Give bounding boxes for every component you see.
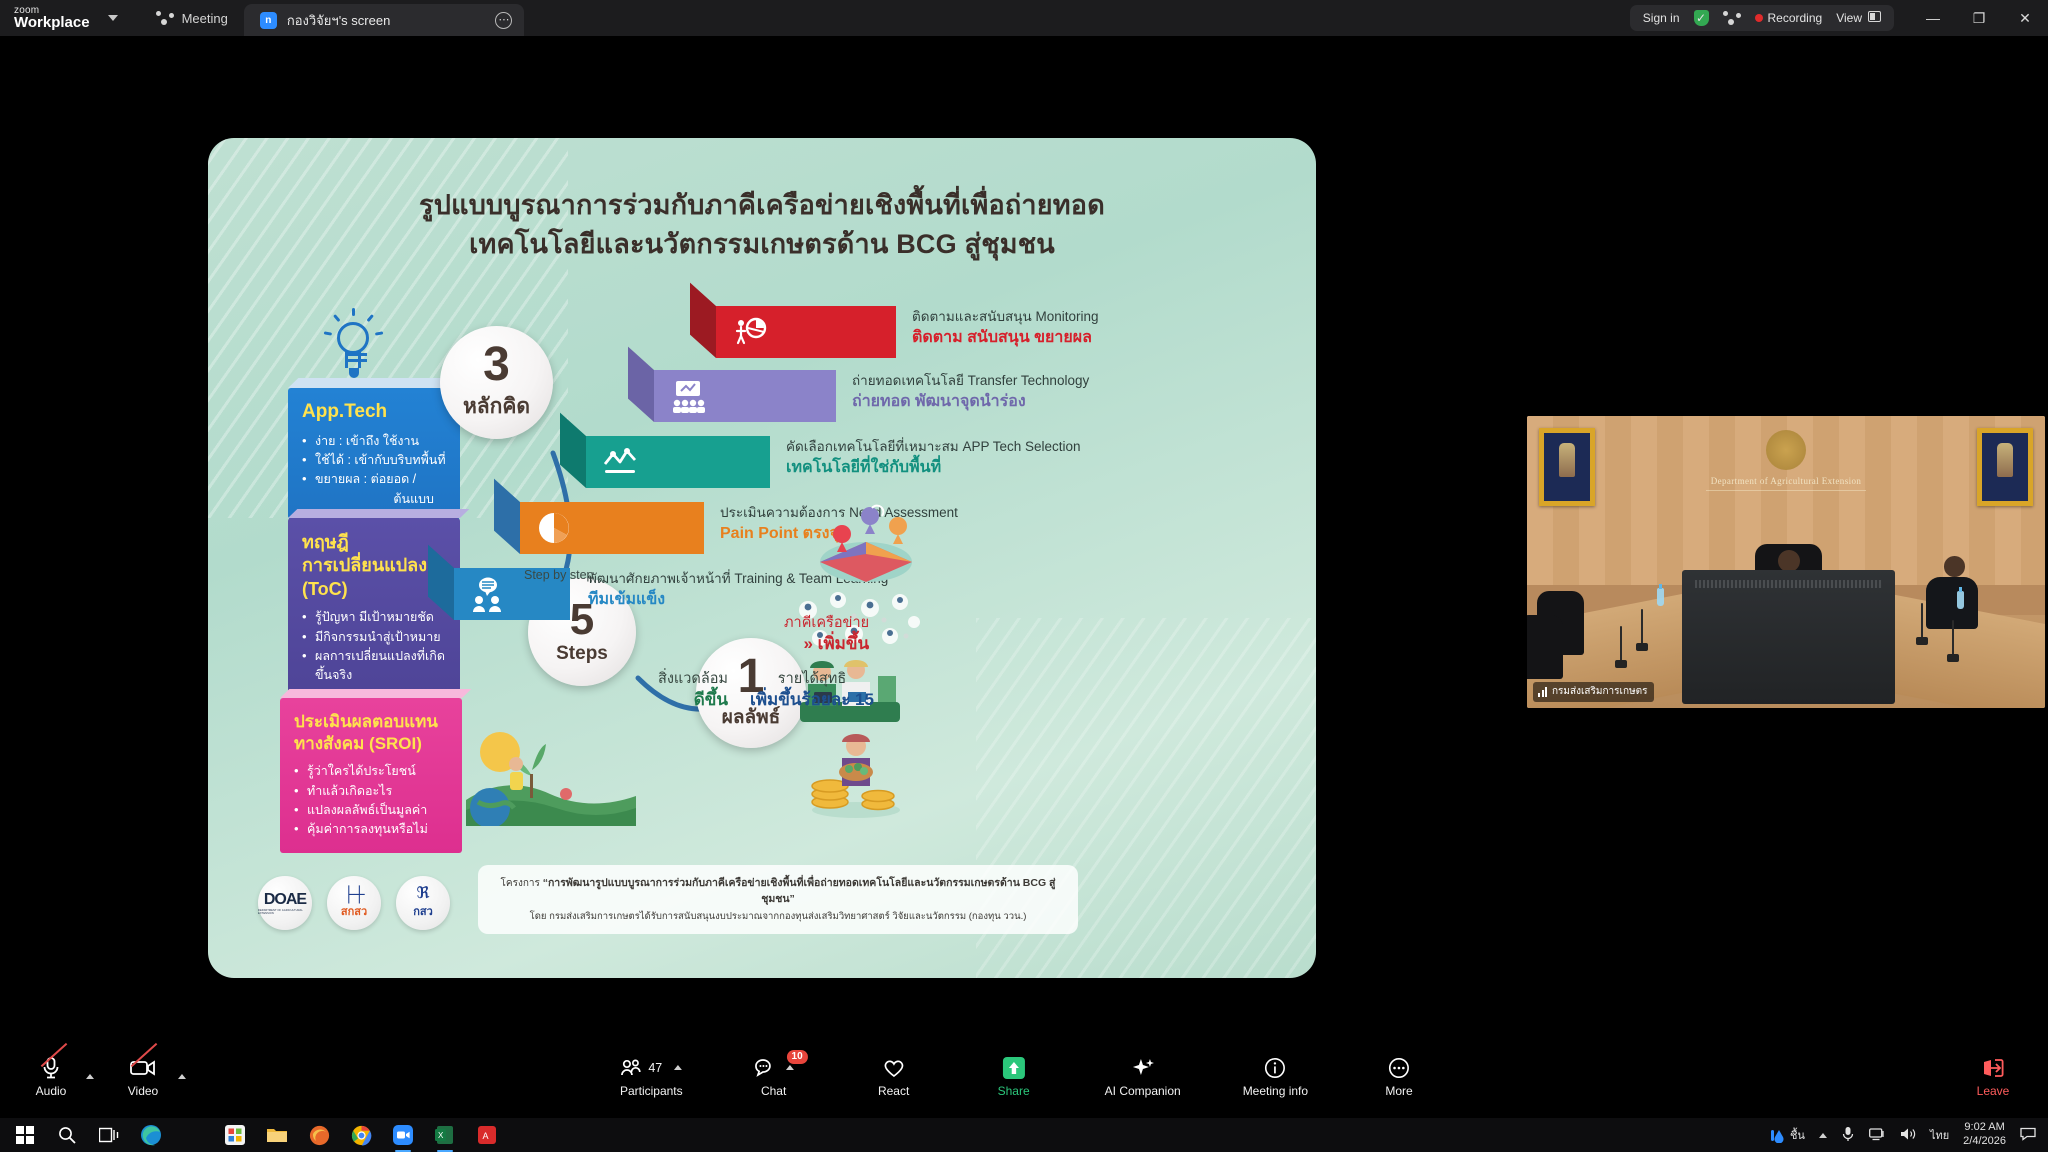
participant-video-tile[interactable]: Department of Agricultural Extension <box>1527 416 2045 708</box>
react-button[interactable]: React <box>865 1056 923 1097</box>
training-team-icon <box>470 576 506 612</box>
excel-icon[interactable]: X <box>434 1124 456 1146</box>
need-assessment-icon <box>536 510 572 546</box>
participants-button[interactable]: 47 Participants <box>620 1056 683 1097</box>
display-monitor <box>1682 570 1894 704</box>
chat-label: Chat <box>761 1085 786 1097</box>
people-icon <box>156 11 174 25</box>
participants-caret-icon[interactable] <box>674 1065 682 1070</box>
share-label: Share <box>998 1085 1030 1097</box>
start-button-icon[interactable] <box>14 1124 36 1146</box>
humidity-icon <box>1769 1127 1785 1143</box>
signal-bars-icon <box>1538 687 1547 697</box>
footnote-line-1: โครงการ “การพัฒนารูปแบบบูรณาการร่วมกับภา… <box>494 875 1062 908</box>
participants-icon <box>620 1059 642 1077</box>
toolbar-center-group: 47 Participants 10 Chat React <box>620 1056 1428 1097</box>
connection-icon[interactable] <box>1723 11 1741 25</box>
clock-time: 9:02 AM <box>1963 1121 2006 1135</box>
chrome-icon[interactable] <box>350 1124 372 1146</box>
card-sroi-title-l1: ประเมินผลตอบแทน <box>294 711 450 733</box>
footnote-prefix: โครงการ <box>501 878 543 889</box>
logo-doae: DOAE DEPARTMENT OF AGRICULTURAL EXTENSIO… <box>258 876 312 930</box>
footnote-line-2: โดย กรมส่งเสริมการเกษตรได้รับการสนับสนุน… <box>494 909 1062 924</box>
restore-button[interactable]: ❐ <box>1956 0 2002 36</box>
step-selection-en: คัดเลือกเทคโนโลยีที่เหมาะสม APP Tech Sel… <box>786 438 1081 456</box>
step-monitoring-en: ติดตามและสนับสนุน Monitoring <box>912 308 1099 326</box>
heart-icon <box>882 1056 906 1080</box>
toolbar-right-group: Leave <box>1964 1056 2022 1097</box>
outcome-network: ภาคีเครือข่าย » เพิ่มขึ้น <box>784 614 869 655</box>
sparkle-icon <box>1131 1056 1155 1080</box>
tray-mic-icon[interactable] <box>1841 1126 1855 1145</box>
leave-button[interactable]: Leave <box>1964 1056 2022 1097</box>
title-bar-right: Sign in ✓ Recording View — ❐ ✕ <box>1630 0 2048 36</box>
chat-caret-icon[interactable] <box>786 1065 794 1070</box>
card-app-tech-title: App.Tech <box>302 400 448 425</box>
logo-nxpo: ℜ กสว <box>396 876 450 930</box>
badge-number: 3 <box>483 342 510 388</box>
video-label: Video <box>128 1085 158 1097</box>
income-coins-illustration <box>806 726 906 818</box>
outcome-environment-value: ดีขึ้น <box>608 689 728 711</box>
tab-more-icon[interactable]: ⋯ <box>495 12 512 29</box>
card-sroi-title-l2: ทางสังคม (SROI) <box>294 733 450 755</box>
meeting-info-label: Meeting info <box>1243 1085 1308 1097</box>
slide-title-line1: รูปแบบบูรณาการร่วมกับภาคีเครือข่ายเชิงพื… <box>278 186 1246 225</box>
list-item: ผลการเปลี่ยนแปลงที่เกิด <box>302 647 448 666</box>
adobe-reader-icon[interactable]: A <box>476 1124 498 1146</box>
participant-head <box>1944 556 1965 576</box>
step-selection-th: เทคโนโลยีที่ใช่กับพื้นที่ <box>786 457 1081 479</box>
audio-label: Audio <box>36 1085 67 1097</box>
list-item: แปลงผลลัพธ์เป็นมูลค่า <box>294 801 450 820</box>
network-icon[interactable] <box>1869 1127 1886 1144</box>
slide-footnote: โครงการ “การพัฒนารูปแบบบูรณาการร่วมกับภา… <box>478 865 1078 934</box>
list-item: มีกิจกรรมนำสู่เป้าหมาย <box>302 628 448 647</box>
view-button[interactable]: View <box>1836 11 1881 25</box>
logo-nxpo-mark: ℜ <box>416 886 429 902</box>
taskbar-icons: X A <box>14 1124 498 1146</box>
more-dots-icon <box>1388 1056 1410 1080</box>
video-participant-name: กรมส่งเสริมการเกษตร <box>1552 684 1647 699</box>
participants-label: Participants <box>620 1085 683 1097</box>
chat-icon <box>754 1058 778 1078</box>
logo-tsri-mark: ├┼ <box>343 887 364 902</box>
department-seal-icon <box>1766 430 1806 470</box>
footnote-project-name: “การพัฒนารูปแบบบูรณาการร่วมกับภาคีเครือข… <box>543 877 1056 906</box>
share-screen-icon <box>1003 1056 1025 1080</box>
share-button[interactable]: Share <box>985 1056 1043 1097</box>
outcome-income-value: เพิ่มขึ้นร้อยละ 15 <box>732 689 892 711</box>
audio-options-caret-icon[interactable] <box>86 1074 94 1079</box>
chevron-down-icon[interactable] <box>108 15 118 21</box>
badge-label: Steps <box>556 643 608 665</box>
card-sroi-bullets: รู้ว่าใครได้ประโยชน์ ทำแล้วเกิดอะไร แปลง… <box>294 762 450 840</box>
recording-status: Recording <box>1755 11 1823 25</box>
logo-nxpo-text: กสว <box>413 902 433 920</box>
presentation-slide: รูปแบบบูรณาการร่วมกับภาคีเครือข่ายเชิงพื… <box>208 138 1316 978</box>
monitor-vent <box>1695 580 1882 588</box>
logo-doae-sub: DEPARTMENT OF AGRICULTURAL EXTENSION <box>258 909 312 915</box>
tab-meeting[interactable]: Meeting <box>140 0 244 36</box>
more-button[interactable]: More <box>1370 1056 1428 1097</box>
list-item: ใช้ได้ : เข้ากับบริบทพื้นที่ <box>302 451 448 470</box>
royal-portrait-right <box>1977 428 2033 506</box>
participants-icon-group: 47 <box>620 1056 682 1080</box>
card-toc-title-l1: ทฤษฎี <box>302 531 448 554</box>
tech-selection-icon <box>602 444 638 480</box>
card-toc: ทฤษฎี การเปลี่ยนแปลง (ToC) รู้ปัญหา มีเป… <box>288 518 460 698</box>
card-app-tech-bullets: ง่าย : เข้าถึง ใช้งาน ใช้ได้ : เข้ากับบร… <box>302 432 448 510</box>
slide-title-line2: เทคโนโลยีและนวัตกรรมเกษตรด้าน BCG สู่ชุม… <box>278 225 1246 264</box>
zoom-meeting-window: zoom Workplace Meeting n กองวิจัยฯ's scr… <box>0 0 2048 1152</box>
language-indicator[interactable]: ไทย <box>1930 1126 1949 1144</box>
lightbulb-icon <box>323 310 385 382</box>
list-item: ง่าย : เข้าถึง ใช้งาน <box>302 432 448 451</box>
zoom-logo-big: Workplace <box>14 15 90 30</box>
task-view-icon[interactable] <box>98 1124 120 1146</box>
toolbar-left-group: Audio Video <box>22 1056 186 1097</box>
environment-illustration <box>466 730 636 826</box>
app-icon: n <box>260 12 277 29</box>
card-sroi-title: ประเมินผลตอบแทน ทางสังคม (SROI) <box>294 711 450 755</box>
leave-label: Leave <box>1977 1085 2010 1097</box>
logo-doae-text: DOAE <box>264 891 306 909</box>
volume-icon[interactable] <box>1900 1127 1916 1144</box>
audio-button[interactable]: Audio <box>22 1056 80 1097</box>
step-transfer-th: ถ่ายทอด พัฒนาจุดนำร่อง <box>852 391 1089 413</box>
system-tray: ชื้น ไทย 9:02 AM 2/4/2026 <box>1769 1121 2036 1149</box>
list-item: ขยายผล : ต่อยอด / <box>302 470 448 489</box>
outcome-network-value: » เพิ่มขึ้น <box>784 633 869 655</box>
step-transfer-en: ถ่ายทอดเทคโนโลยี Transfer Technology <box>852 372 1089 390</box>
taskbar-clock[interactable]: 9:02 AM 2/4/2026 <box>1963 1121 2006 1149</box>
weather-widget[interactable]: ชื้น <box>1769 1126 1805 1144</box>
outcome-income: รายได้สุทธิ เพิ่มขึ้นร้อยละ 15 <box>732 670 892 711</box>
video-name-label: กรมส่งเสริมการเกษตร <box>1533 682 1654 702</box>
list-item: ขึ้นจริง <box>302 666 448 685</box>
svg-text:X: X <box>438 1131 444 1140</box>
microsoft-store-icon[interactable] <box>224 1124 246 1146</box>
list-item: รู้ปัญหา มีเป้าหมายชัด <box>302 608 448 627</box>
ai-companion-button[interactable]: AI Companion <box>1105 1056 1181 1097</box>
partner-logos: DOAE DEPARTMENT OF AGRICULTURAL EXTENSIO… <box>258 876 450 930</box>
info-icon <box>1264 1056 1286 1080</box>
minimize-button[interactable]: — <box>1910 0 1956 36</box>
monitoring-icon <box>732 314 768 350</box>
list-item: คุ้มค่าการลงทุนหรือไม่ <box>294 820 450 839</box>
participants-count: 47 <box>648 1061 662 1075</box>
badge-label: หลักคิด <box>463 390 530 423</box>
outcome-environment-label: สิ่งแวดล้อม <box>608 670 728 689</box>
card-toc-bullets: รู้ปัญหา มีเป้าหมายชัด มีกิจกรรมนำสู่เป้… <box>302 608 448 686</box>
chat-unread-badge: 10 <box>787 1050 808 1065</box>
page-title: รูปแบบบูรณาการร่วมกับภาคีเครือข่ายเชิงพื… <box>208 186 1316 264</box>
video-frame: Department of Agricultural Extension <box>1527 416 2045 708</box>
clock-date: 2/4/2026 <box>1963 1135 2006 1149</box>
file-explorer-icon[interactable] <box>266 1124 288 1146</box>
outcome-network-label: ภาคีเครือข่าย <box>784 614 869 633</box>
list-item: ต้นแบบ <box>302 490 448 509</box>
microphone-2 <box>1620 626 1622 661</box>
react-label: React <box>878 1085 909 1097</box>
shared-screen-stage[interactable]: รูปแบบบูรณาการร่วมกับภาคีเครือข่ายเชิงพื… <box>8 74 1518 1030</box>
royal-portrait-left <box>1539 428 1595 506</box>
microphone-1 <box>1641 609 1643 644</box>
meeting-info-button[interactable]: Meeting info <box>1243 1056 1308 1097</box>
edge-icon[interactable] <box>140 1124 162 1146</box>
weather-text: ชื้น <box>1790 1126 1805 1144</box>
logo-tsri: ├┼ สกสว <box>327 876 381 930</box>
microphone-4 <box>1952 620 1954 655</box>
outcome-environment: สิ่งแวดล้อม ดีขึ้น <box>608 670 728 711</box>
svg-text:A: A <box>483 1131 489 1141</box>
tray-expand-icon[interactable] <box>1819 1133 1827 1138</box>
badge-3-principles: 3 หลักคิด <box>440 326 553 439</box>
sign-in-button[interactable]: Sign in <box>1643 11 1680 25</box>
more-label: More <box>1385 1085 1412 1097</box>
tab-shared-screen[interactable]: n กองวิจัยฯ's screen ⋯ <box>244 4 524 36</box>
zoom-logo: zoom Workplace <box>14 6 90 30</box>
microphone-3 <box>1921 603 1923 638</box>
logo-tsri-text: สกสว <box>341 902 367 920</box>
notification-center-icon[interactable] <box>2020 1127 2036 1144</box>
list-item: ทำแล้วเกิดอะไร <box>294 782 450 801</box>
card-app-tech: App.Tech ง่าย : เข้าถึง ใช้งาน ใช้ได้ : … <box>288 388 460 519</box>
search-icon[interactable] <box>56 1124 78 1146</box>
sign-rule <box>1706 490 1866 491</box>
tab-meeting-label: Meeting <box>182 11 228 26</box>
view-layout-icon <box>1868 11 1881 22</box>
camera-muted-icon <box>130 1056 156 1080</box>
shield-check-icon[interactable]: ✓ <box>1694 10 1709 26</box>
close-button[interactable]: ✕ <box>2002 0 2048 36</box>
title-bar: zoom Workplace Meeting n กองวิจัยฯ's scr… <box>0 0 2048 36</box>
ai-companion-label: AI Companion <box>1105 1085 1181 1097</box>
card-sroi: ประเมินผลตอบแทน ทางสังคม (SROI) รู้ว่าใค… <box>280 698 462 853</box>
outcome-income-label: รายได้สุทธิ <box>732 670 892 689</box>
water-bottle-3 <box>1957 591 1964 609</box>
recording-dot-icon <box>1755 14 1763 22</box>
status-pill: Sign in ✓ Recording View <box>1630 5 1894 31</box>
card-toc-title-l3: (ToC) <box>302 578 448 601</box>
firefox-icon[interactable] <box>308 1124 330 1146</box>
transfer-technology-icon <box>670 378 706 414</box>
video-options-caret-icon[interactable] <box>178 1074 186 1079</box>
chat-button[interactable]: 10 Chat <box>745 1056 803 1097</box>
step-by-step-label: Step by step <box>524 568 594 582</box>
video-button[interactable]: Video <box>114 1056 172 1097</box>
water-bottle-1 <box>1657 588 1664 606</box>
department-sign: Department of Agricultural Extension <box>1711 476 1862 486</box>
chat-icon-group: 10 <box>754 1056 794 1080</box>
step-monitoring-th: ติดตาม สนับสนุน ขยายผล <box>912 327 1099 349</box>
list-item: รู้ว่าใครได้ประโยชน์ <box>294 762 450 781</box>
chevrons-icon: » <box>803 634 812 653</box>
tab-shared-screen-label: กองวิจัยฯ's screen <box>287 10 390 31</box>
zoom-toolbar: Audio Video 47 Participants <box>0 1034 2048 1118</box>
copilot-icon[interactable] <box>182 1124 204 1146</box>
chair-left-2 <box>1527 615 1563 679</box>
card-toc-title: ทฤษฎี การเปลี่ยนแปลง (ToC) <box>302 531 448 601</box>
map-pins-illustration <box>806 490 916 590</box>
windows-taskbar: X A ชื้น ไทย 9:02 AM 2/4/2026 <box>0 1118 2048 1152</box>
microphone-muted-icon <box>40 1056 62 1080</box>
leave-icon <box>1981 1056 2005 1080</box>
zoom-taskbar-icon[interactable] <box>392 1124 414 1146</box>
card-toc-title-l2: การเปลี่ยนแปลง <box>302 554 448 577</box>
